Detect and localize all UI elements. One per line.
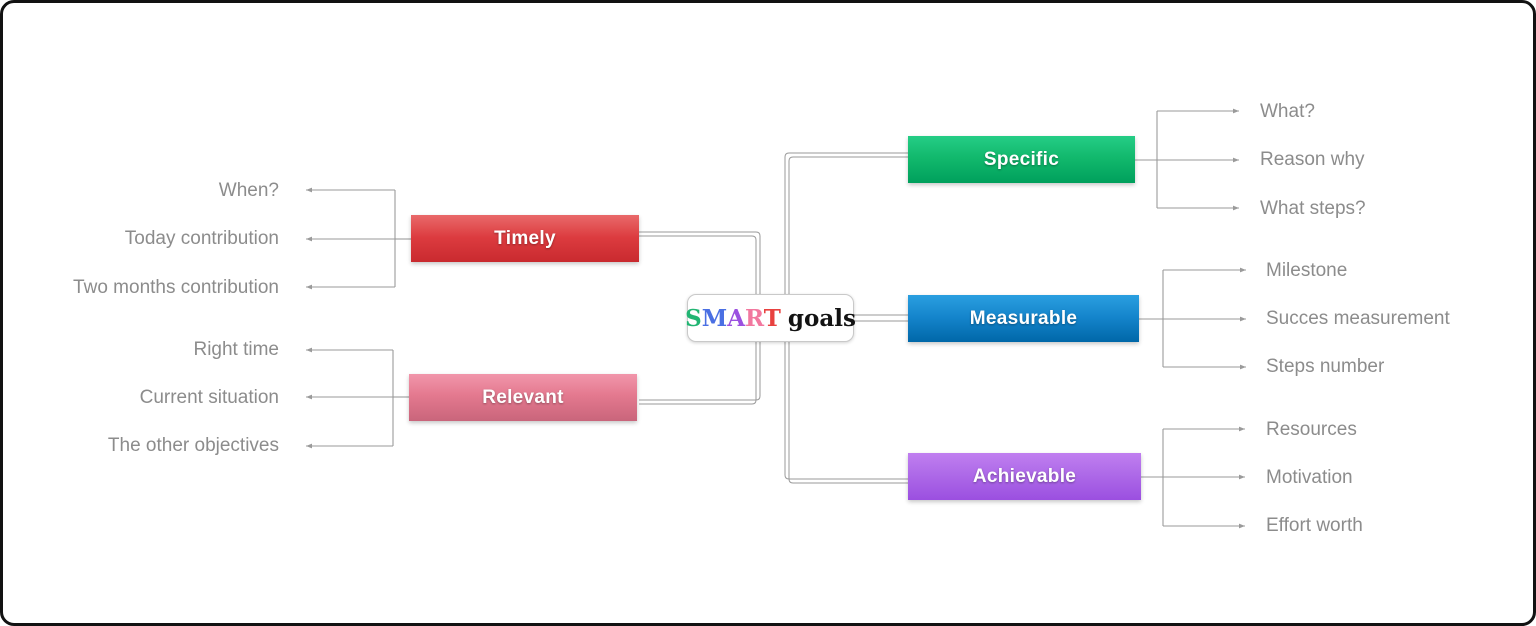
connector-achievable-leaves [1141,429,1245,526]
leaf-specific-what[interactable]: What? [1260,102,1315,121]
branch-box-measurable[interactable]: Measurable [908,295,1139,342]
branch-box-relevant[interactable]: Relevant [409,374,637,421]
leaf-specific-reason-why[interactable]: Reason why [1260,150,1365,169]
branch-box-achievable[interactable]: Achievable [908,453,1141,500]
leaf-achievable-resources[interactable]: Resources [1266,420,1357,439]
branch-label-specific: Specific [984,149,1059,171]
center-node-suffix: goals [781,305,856,332]
branch-label-relevant: Relevant [482,387,564,409]
leaf-timely-when[interactable]: When? [219,181,279,200]
leaf-timely-two-months-contribution[interactable]: Two months contribution [73,278,279,297]
connector-relevant-leaves [306,350,409,446]
leaf-measurable-milestone[interactable]: Milestone [1266,261,1347,280]
leaf-achievable-effort-worth[interactable]: Effort worth [1266,516,1363,535]
leaf-relevant-the-other-objectives[interactable]: The other objectives [108,436,279,455]
leaf-achievable-motivation[interactable]: Motivation [1266,468,1353,487]
branch-box-specific[interactable]: Specific [908,136,1135,183]
leaf-relevant-right-time[interactable]: Right time [193,340,279,359]
smart-letter-s: S [685,305,702,332]
connector-timely-leaves [306,190,411,287]
branch-label-achievable: Achievable [973,466,1076,488]
branch-label-measurable: Measurable [970,308,1078,330]
connector-specific-leaves [1135,111,1239,208]
center-node-smart-goals[interactable]: SMARTgoals [687,294,854,342]
leaf-relevant-current-situation[interactable]: Current situation [140,388,279,407]
smart-letter-t: T [764,305,781,332]
leaf-specific-what-steps[interactable]: What steps? [1260,199,1366,218]
branch-label-timely: Timely [494,228,556,250]
center-node-label: SMARTgoals [685,307,856,330]
smart-letter-a: A [727,305,745,332]
branch-box-timely[interactable]: Timely [411,215,639,262]
diagram-canvas: SMARTgoals Specific Measurable Achievabl… [0,0,1536,626]
leaf-measurable-succes-measurement[interactable]: Succes measurement [1266,309,1450,328]
leaf-measurable-steps-number[interactable]: Steps number [1266,357,1384,376]
smart-letter-r: R [745,305,764,332]
leaf-timely-today-contribution[interactable]: Today contribution [125,229,279,248]
smart-letter-m: M [702,305,727,332]
connector-measurable-leaves [1139,270,1246,367]
